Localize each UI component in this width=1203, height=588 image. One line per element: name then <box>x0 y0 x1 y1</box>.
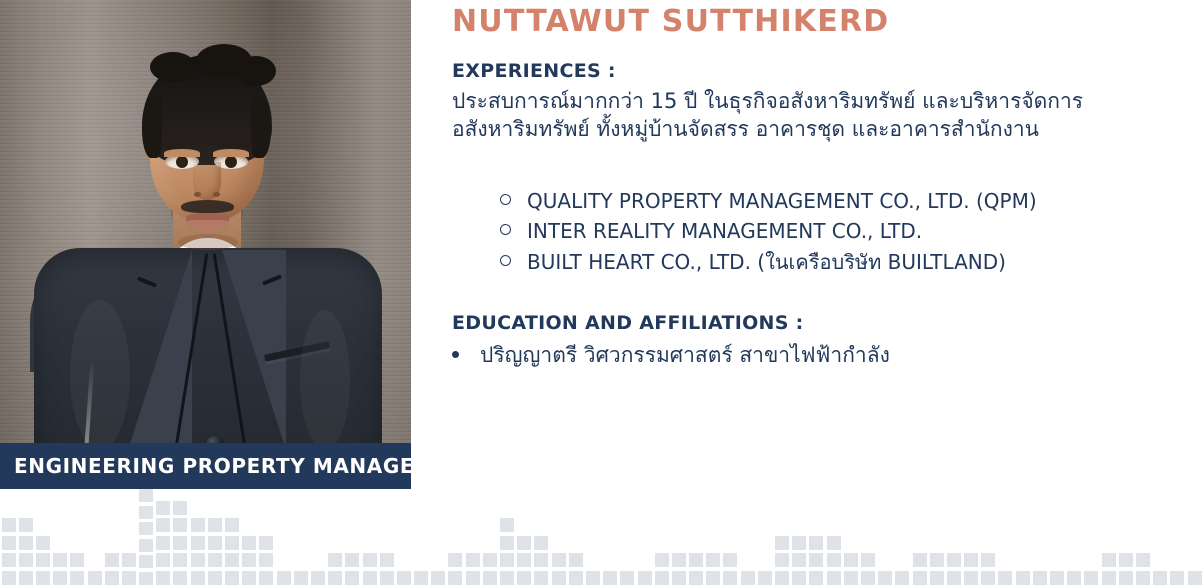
skyline-block <box>827 536 841 550</box>
skyline-column <box>447 489 464 588</box>
skyline-block <box>259 536 273 550</box>
pupil-right <box>225 156 237 168</box>
skyline-block <box>723 571 737 585</box>
list-item: ปริญญาตรี วิศวกรรมศาสตร์ สาขาไฟฟ้ากำลัง <box>452 340 890 370</box>
skyline-block <box>1067 571 1081 585</box>
skyline-column <box>103 489 120 588</box>
skyline-column <box>1186 489 1203 588</box>
skyline-block <box>53 553 67 567</box>
skyline-column <box>1083 489 1100 588</box>
skyline-column <box>1066 489 1083 588</box>
skyline-block <box>173 518 187 532</box>
skyline-column <box>34 489 51 588</box>
skyline-block <box>500 536 514 550</box>
skyline-block <box>775 571 789 585</box>
skyline-block <box>861 571 875 585</box>
skyline-block <box>208 536 222 550</box>
skyline-block <box>947 553 961 567</box>
skyline-column <box>945 489 962 588</box>
skyline-column <box>894 489 911 588</box>
nostril-left <box>194 192 201 197</box>
pupil-left <box>176 156 188 168</box>
skyline-block <box>414 571 428 585</box>
skyline-block <box>534 571 548 585</box>
skyline-block <box>173 571 187 585</box>
skyline-column <box>413 489 430 588</box>
skyline-block <box>2 536 16 550</box>
skyline-column <box>533 489 550 588</box>
skyline-column <box>1048 489 1065 588</box>
skyline-column <box>825 489 842 588</box>
person-figure <box>0 0 411 489</box>
experiences-heading: EXPERIENCES : <box>452 60 616 82</box>
hair-tuft <box>150 52 196 82</box>
hair-tuft <box>236 56 276 86</box>
skyline-block <box>569 553 583 567</box>
skyline-block <box>380 571 394 585</box>
skyline-column <box>963 489 980 588</box>
skyline-block <box>569 571 583 585</box>
skyline-column <box>619 489 636 588</box>
skyline-block <box>466 553 480 567</box>
company-name: INTER REALITY MANAGEMENT CO., LTD. <box>527 216 922 246</box>
skyline-column <box>877 489 894 588</box>
skyline-block <box>792 553 806 567</box>
skyline-block <box>809 571 823 585</box>
skyline-block <box>259 571 273 585</box>
skyline-column <box>292 489 309 588</box>
skyline-block <box>328 571 342 585</box>
skyline-block <box>586 571 600 585</box>
skyline-block <box>191 518 205 532</box>
eyelid-right <box>213 149 249 157</box>
skyline-block <box>448 571 462 585</box>
skyline-block <box>775 536 789 550</box>
lower-lip <box>186 220 229 231</box>
eyelid-left <box>164 149 200 157</box>
skyline-block <box>139 555 153 568</box>
skyline-column <box>670 489 687 588</box>
skyline-column <box>688 489 705 588</box>
skyline-block <box>277 571 291 585</box>
skyline-column <box>498 489 515 588</box>
skyline-block <box>139 572 153 585</box>
skyline-decoration <box>0 489 1203 588</box>
skyline-block <box>311 571 325 585</box>
skyline-column <box>756 489 773 588</box>
skyline-column <box>395 489 412 588</box>
education-list: ปริญญาตรี วิศวกรรมศาสตร์ สาขาไฟฟ้ากำลัง <box>452 340 890 370</box>
job-title-label: ENGINEERING PROPERTY MANAGER <box>0 454 430 478</box>
skyline-block <box>620 571 634 585</box>
skyline-block <box>173 501 187 515</box>
skyline-block <box>706 553 720 567</box>
skyline-block <box>500 571 514 585</box>
skyline-block <box>173 553 187 567</box>
skyline-block <box>397 571 411 585</box>
company-name: BUILT HEART CO., LTD. (ในเครือบริษัท BUI… <box>527 247 1006 277</box>
skyline-column <box>653 489 670 588</box>
skyline-block <box>122 553 136 567</box>
skyline-block <box>1033 571 1047 585</box>
skyline-block <box>689 571 703 585</box>
education-entry: ปริญญาตรี วิศวกรรมศาสตร์ สาขาไฟฟ้ากำลัง <box>480 340 890 370</box>
skyline-block <box>534 553 548 567</box>
skyline-column <box>172 489 189 588</box>
skyline-column <box>1134 489 1151 588</box>
skyline-block <box>19 571 33 585</box>
skyline-block <box>723 553 737 567</box>
skyline-block <box>964 571 978 585</box>
company-name: QUALITY PROPERTY MANAGEMENT CO., LTD. (Q… <box>527 186 1037 216</box>
skyline-column <box>378 489 395 588</box>
skyline-column <box>1169 489 1186 588</box>
skyline-block <box>552 553 566 567</box>
skyline-block <box>105 553 119 567</box>
skyline-column <box>705 489 722 588</box>
skyline-block <box>208 518 222 532</box>
skyline-block <box>225 536 239 550</box>
skyline-block <box>1016 571 1030 585</box>
jacket-fold <box>70 300 130 450</box>
skyline-block <box>844 553 858 567</box>
list-item: BUILT HEART CO., LTD. (ในเครือบริษัท BUI… <box>500 247 1037 277</box>
skyline-block <box>139 539 153 552</box>
skyline-block <box>345 553 359 567</box>
skyline-block <box>1102 553 1116 567</box>
skyline-column <box>1152 489 1169 588</box>
skyline-block <box>363 571 377 585</box>
skyline-block <box>345 571 359 585</box>
skyline-block <box>2 571 16 585</box>
company-list: QUALITY PROPERTY MANAGEMENT CO., LTD. (Q… <box>500 186 1037 277</box>
job-title-banner: ENGINEERING PROPERTY MANAGER <box>0 443 411 489</box>
skyline-column <box>1014 489 1031 588</box>
skyline-block <box>981 553 995 567</box>
skyline-block <box>1136 553 1150 567</box>
skyline-block <box>156 518 170 532</box>
skyline-block <box>517 536 531 550</box>
skyline-block <box>2 518 16 532</box>
skyline-column <box>86 489 103 588</box>
skyline-block <box>792 571 806 585</box>
skyline-block <box>844 571 858 585</box>
skyline-block <box>242 553 256 567</box>
skyline-column <box>567 489 584 588</box>
skyline-block <box>483 571 497 585</box>
skyline-block <box>36 536 50 550</box>
skyline-column <box>241 489 258 588</box>
skyline-block <box>156 553 170 567</box>
skyline-block <box>552 571 566 585</box>
skyline-block <box>930 571 944 585</box>
skyline-column <box>189 489 206 588</box>
skyline-block <box>156 536 170 550</box>
skyline-column <box>739 489 756 588</box>
experience-summary: ประสบการณ์มากกว่า 15 ปี ในธุรกิจอสังหาริ… <box>452 88 1182 143</box>
skyline-block <box>878 571 892 585</box>
skyline-column <box>464 489 481 588</box>
skyline-column <box>722 489 739 588</box>
skyline-block <box>19 536 33 550</box>
skyline-column <box>52 489 69 588</box>
skyline-column <box>791 489 808 588</box>
skyline-column <box>327 489 344 588</box>
skyline-column <box>155 489 172 588</box>
skyline-block <box>1119 553 1133 567</box>
skyline-block <box>1188 571 1202 585</box>
skyline-block <box>242 536 256 550</box>
skyline-block <box>88 571 102 585</box>
skyline-block <box>947 571 961 585</box>
skyline-column <box>206 489 223 588</box>
skyline-column <box>859 489 876 588</box>
skyline-block <box>981 571 995 585</box>
skyline-block <box>363 553 377 567</box>
skyline-column <box>980 489 997 588</box>
skyline-block <box>500 553 514 567</box>
list-item: INTER REALITY MANAGEMENT CO., LTD. <box>500 216 1037 246</box>
skyline-block <box>1153 571 1167 585</box>
skyline-block <box>913 571 927 585</box>
skyline-block <box>861 553 875 567</box>
profile-content: NUTTAWUT SUTTHIKERD EXPERIENCES : ประสบก… <box>452 0 1192 489</box>
skyline-column <box>275 489 292 588</box>
skyline-block <box>1050 571 1064 585</box>
skyline-column <box>1117 489 1134 588</box>
skyline-column <box>361 489 378 588</box>
skyline-column <box>258 489 275 588</box>
skyline-column <box>138 489 155 588</box>
skyline-block <box>517 571 531 585</box>
skyline-block <box>706 571 720 585</box>
moustache <box>181 200 234 213</box>
skyline-block <box>913 553 927 567</box>
chin-shadow <box>178 234 238 250</box>
skyline-block <box>191 536 205 550</box>
skyline-block <box>466 571 480 585</box>
skyline-block <box>1102 571 1116 585</box>
portrait-photo-panel <box>0 0 411 489</box>
skyline-block <box>689 553 703 567</box>
skyline-column <box>1100 489 1117 588</box>
skyline-block <box>827 571 841 585</box>
skyline-block <box>1119 571 1133 585</box>
hair-side-left <box>142 96 162 158</box>
skyline-column <box>344 489 361 588</box>
skyline-block <box>1136 571 1150 585</box>
skyline-block <box>672 553 686 567</box>
hollow-circle-icon <box>500 255 511 266</box>
skyline-block <box>53 571 67 585</box>
skyline-column <box>602 489 619 588</box>
skyline-block <box>294 571 308 585</box>
skyline-block <box>225 571 239 585</box>
skyline-block <box>998 571 1012 585</box>
skyline-block <box>139 489 153 502</box>
skyline-block <box>930 553 944 567</box>
skyline-column <box>808 489 825 588</box>
skyline-block <box>70 571 84 585</box>
skyline-block <box>809 536 823 550</box>
skyline-block <box>517 553 531 567</box>
skyline-block <box>70 553 84 567</box>
skyline-block <box>19 518 33 532</box>
list-item: QUALITY PROPERTY MANAGEMENT CO., LTD. (Q… <box>500 186 1037 216</box>
skyline-column <box>928 489 945 588</box>
education-heading: EDUCATION AND AFFILIATIONS : <box>452 312 804 334</box>
skyline-block <box>792 536 806 550</box>
skyline-block <box>655 571 669 585</box>
skyline-block <box>2 553 16 567</box>
skyline-column <box>0 489 17 588</box>
skyline-block <box>964 553 978 567</box>
skyline-block <box>105 571 119 585</box>
bullet-dot-icon <box>452 351 459 358</box>
skyline-block <box>208 571 222 585</box>
skyline-block <box>758 571 772 585</box>
skyline-column <box>17 489 34 588</box>
skyline-column <box>69 489 86 588</box>
skyline-column <box>842 489 859 588</box>
skyline-block <box>225 518 239 532</box>
skyline-block <box>809 553 823 567</box>
skyline-block <box>173 536 187 550</box>
skyline-column <box>481 489 498 588</box>
person-name: NUTTAWUT SUTTHIKERD <box>452 4 889 39</box>
skyline-block <box>242 571 256 585</box>
nostril-right <box>213 192 220 197</box>
skyline-column <box>309 489 326 588</box>
skyline-block <box>431 571 445 585</box>
skyline-column <box>636 489 653 588</box>
skyline-block <box>448 553 462 567</box>
skyline-block <box>191 571 205 585</box>
skyline-block <box>328 553 342 567</box>
skyline-block <box>122 571 136 585</box>
skyline-block <box>380 553 394 567</box>
skyline-column <box>430 489 447 588</box>
skyline-block <box>156 571 170 585</box>
skyline-column <box>911 489 928 588</box>
skyline-block <box>1170 571 1184 585</box>
skyline-block <box>827 553 841 567</box>
skyline-block <box>156 501 170 515</box>
skyline-block <box>895 571 909 585</box>
skyline-block <box>655 553 669 567</box>
skyline-column <box>550 489 567 588</box>
skyline-block <box>36 553 50 567</box>
hollow-circle-icon <box>500 194 511 205</box>
skyline-column <box>773 489 790 588</box>
skyline-block <box>741 571 755 585</box>
skyline-column <box>120 489 137 588</box>
skyline-block <box>19 553 33 567</box>
skyline-column <box>223 489 240 588</box>
skyline-block <box>603 571 617 585</box>
skyline-block <box>139 522 153 535</box>
skyline-block <box>483 553 497 567</box>
hollow-circle-icon <box>500 224 511 235</box>
skyline-block <box>638 571 652 585</box>
skyline-block <box>259 553 273 567</box>
skyline-column <box>1031 489 1048 588</box>
skyline-block <box>775 553 789 567</box>
skyline-block <box>534 536 548 550</box>
skyline-block <box>672 571 686 585</box>
skyline-block <box>500 518 514 532</box>
jacket-fold <box>300 310 350 450</box>
skyline-column <box>584 489 601 588</box>
skyline-block <box>139 506 153 519</box>
skyline-block <box>1084 571 1098 585</box>
skyline-block <box>191 553 205 567</box>
skyline-column <box>997 489 1014 588</box>
skyline-block <box>208 553 222 567</box>
skyline-block <box>225 553 239 567</box>
skyline-block <box>36 571 50 585</box>
skyline-column <box>516 489 533 588</box>
